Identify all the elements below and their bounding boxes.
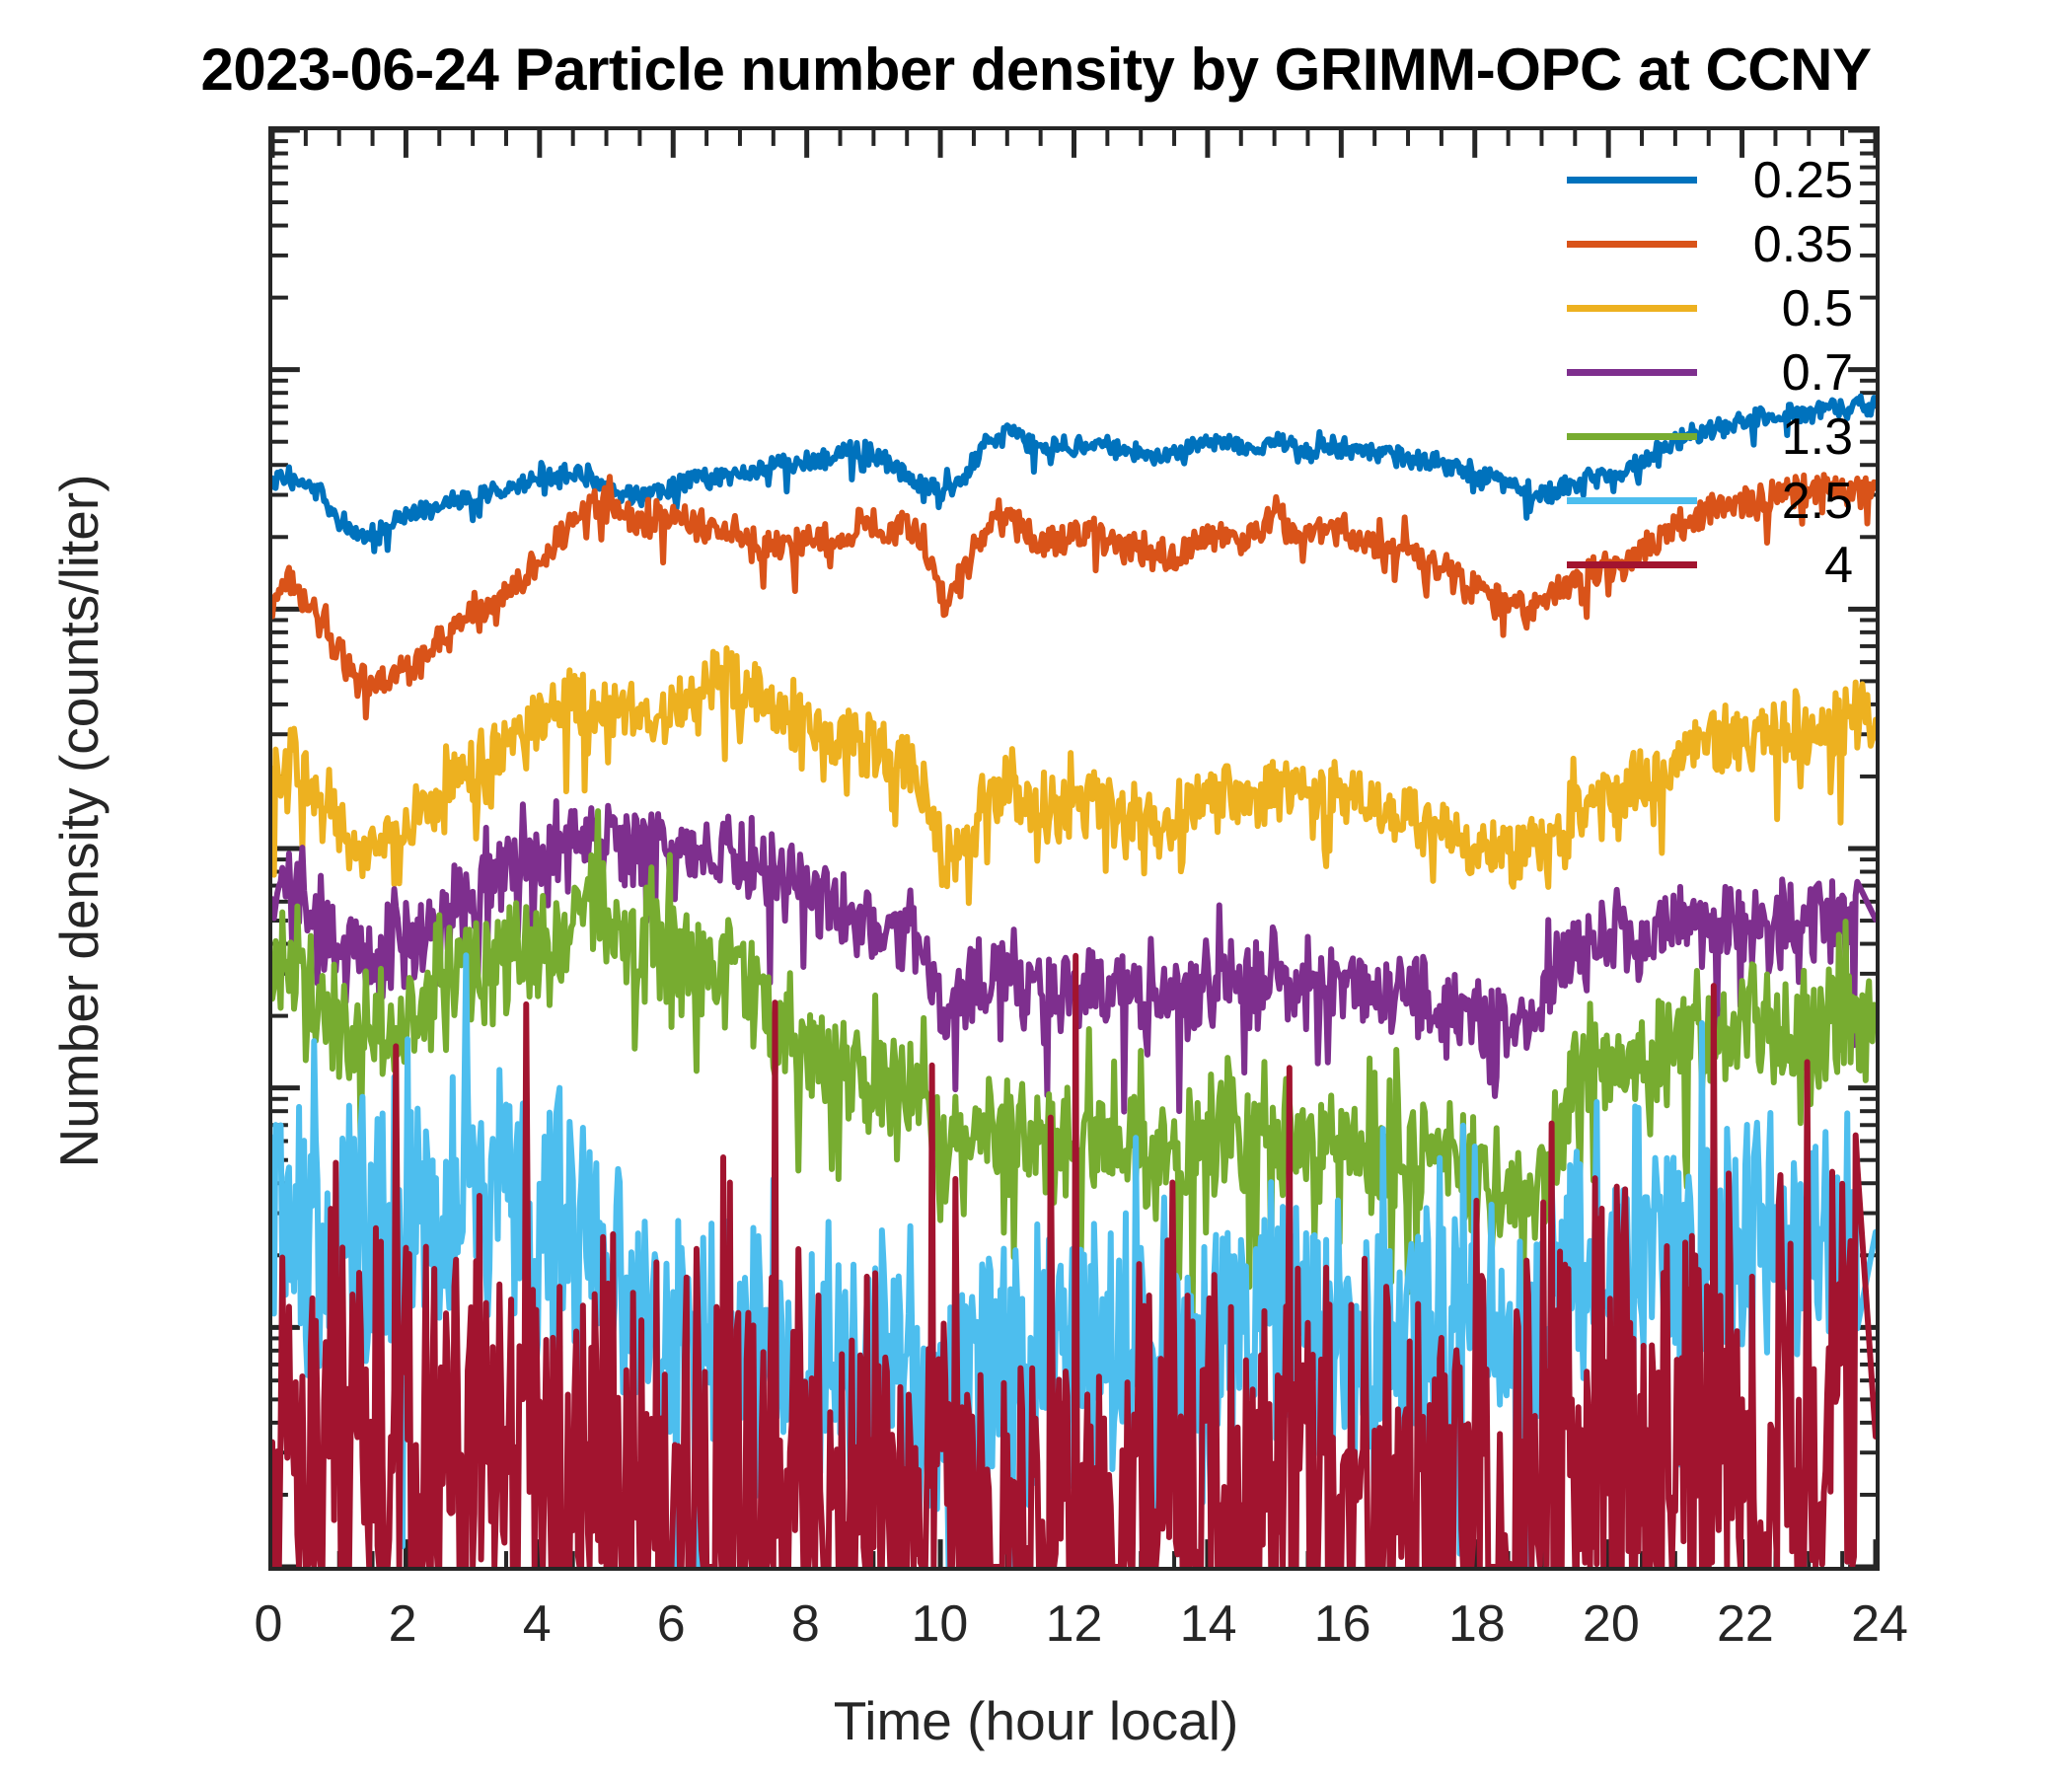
legend-swatch-icon — [1567, 305, 1697, 312]
legend-swatch-icon — [1567, 369, 1697, 376]
legend-label: 2.5 — [1705, 472, 1853, 531]
x-tick-label: 6 — [657, 1594, 686, 1654]
legend-swatch-icon — [1567, 241, 1697, 248]
legend-item-0-25[interactable]: 0.25 — [1567, 148, 1863, 212]
x-tick-label: 16 — [1314, 1594, 1371, 1654]
legend-item-0-5[interactable]: 0.5 — [1567, 276, 1863, 340]
legend-item-4[interactable]: 4 — [1567, 533, 1863, 597]
x-tick-label: 2 — [389, 1594, 417, 1654]
legend-swatch-icon — [1567, 497, 1697, 504]
x-tick-label: 20 — [1583, 1594, 1640, 1654]
legend-label: 4 — [1705, 536, 1853, 595]
legend-swatch-icon — [1567, 433, 1697, 440]
legend-label: 0.35 — [1705, 215, 1853, 274]
x-tick-label: 22 — [1717, 1594, 1774, 1654]
x-tick-label: 4 — [523, 1594, 552, 1654]
x-tick-label: 8 — [791, 1594, 820, 1654]
x-tick-label: 10 — [911, 1594, 968, 1654]
legend-item-2-5[interactable]: 2.5 — [1567, 469, 1863, 533]
legend-swatch-icon — [1567, 177, 1697, 184]
chart-figure: 2023-06-24 Particle number density by GR… — [0, 0, 2072, 1776]
legend-item-0-35[interactable]: 0.35 — [1567, 212, 1863, 276]
legend-label: 0.25 — [1705, 151, 1853, 210]
legend-label: 0.5 — [1705, 279, 1853, 338]
x-axis-label: Time (hour local) — [0, 1689, 2072, 1752]
x-tick-label: 14 — [1180, 1594, 1237, 1654]
chart-title: 2023-06-24 Particle number density by GR… — [0, 36, 2072, 104]
x-tick-label: 18 — [1448, 1594, 1506, 1654]
x-tick-label: 24 — [1851, 1594, 1908, 1654]
chart-legend: 0.250.350.50.71.32.54 — [1567, 148, 1863, 597]
legend-swatch-icon — [1567, 561, 1697, 568]
x-tick-label: 0 — [255, 1594, 283, 1654]
legend-item-0-7[interactable]: 0.7 — [1567, 340, 1863, 405]
x-tick-label: 12 — [1046, 1594, 1103, 1654]
legend-label: 1.3 — [1705, 407, 1853, 467]
legend-label: 0.7 — [1705, 343, 1853, 403]
legend-item-1-3[interactable]: 1.3 — [1567, 405, 1863, 469]
y-axis-label: Number density (counts/liter) — [47, 377, 111, 1265]
